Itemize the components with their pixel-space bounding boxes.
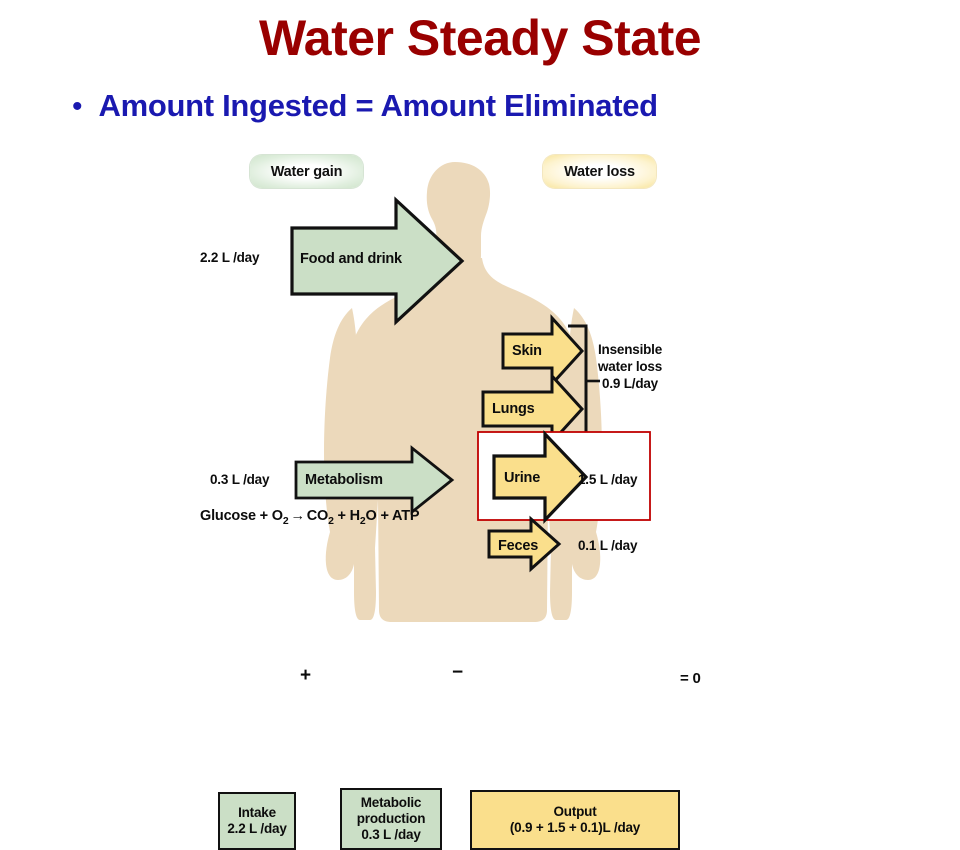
summary-equals-zero: = 0: [680, 670, 701, 687]
water-gain-chip: Water gain: [250, 155, 363, 188]
metabolism-equation: Glucose + O2→CO2 + H2O + ATP: [200, 508, 419, 527]
water-balance-diagram: Water gain Water loss Food and drink Met…: [0, 140, 960, 720]
bullet-icon: •: [72, 92, 83, 122]
operator-minus: −: [452, 662, 463, 684]
arrow-label-metabolism: Metabolism: [305, 472, 383, 488]
page-title: Water Steady State: [0, 10, 960, 66]
insensible-line-3: 0.9 L/day: [598, 376, 662, 393]
operator-plus: +: [300, 665, 311, 687]
diagram-graphics-layer: [0, 140, 960, 720]
arrow-label-urine: Urine: [504, 470, 540, 486]
water-loss-chip: Water loss: [543, 155, 656, 188]
arrow-label-food-and-drink: Food and drink: [300, 251, 402, 267]
summary-box-output: Output (0.9 + 1.5 + 0.1)L /day: [470, 790, 680, 850]
insensible-line-1: Insensible: [598, 342, 662, 359]
equation-co2: CO: [307, 508, 328, 524]
subtitle-bullet-row: • Amount Ingested = Amount Eliminated: [72, 88, 658, 124]
intake-value: 2.2 L /day: [227, 821, 286, 837]
metabolic-value: 0.3 L /day: [361, 827, 420, 843]
arrow-label-skin: Skin: [512, 343, 542, 359]
metabolic-label-line2: production: [357, 811, 426, 827]
equation-plus-h: + H: [334, 508, 360, 524]
rate-label-urine: 1.5 L /day: [578, 472, 637, 487]
output-value: (0.9 + 1.5 + 0.1)L /day: [510, 820, 640, 836]
rate-label-feces: 0.1 L /day: [578, 538, 637, 553]
rate-label-metabolism: 0.3 L /day: [210, 472, 269, 487]
insensible-water-loss-label: Insensible water loss 0.9 L/day: [598, 342, 662, 393]
arrow-label-lungs: Lungs: [492, 401, 535, 417]
rate-label-food-and-drink: 2.2 L /day: [200, 250, 259, 265]
output-label: Output: [553, 804, 596, 820]
insensible-line-2: water loss: [598, 359, 662, 376]
intake-label: Intake: [238, 805, 276, 821]
equation-o-atp: O + ATP: [366, 508, 420, 524]
equation-yields-arrow-icon: →: [288, 508, 306, 524]
equation-glucose: Glucose + O: [200, 508, 283, 524]
subtitle-text: Amount Ingested = Amount Eliminated: [99, 88, 658, 124]
summary-box-metabolic-production: Metabolic production 0.3 L /day: [340, 788, 442, 850]
metabolic-label-line1: Metabolic: [361, 795, 421, 811]
summary-box-intake: Intake 2.2 L /day: [218, 792, 296, 850]
arrow-label-feces: Feces: [498, 538, 538, 554]
